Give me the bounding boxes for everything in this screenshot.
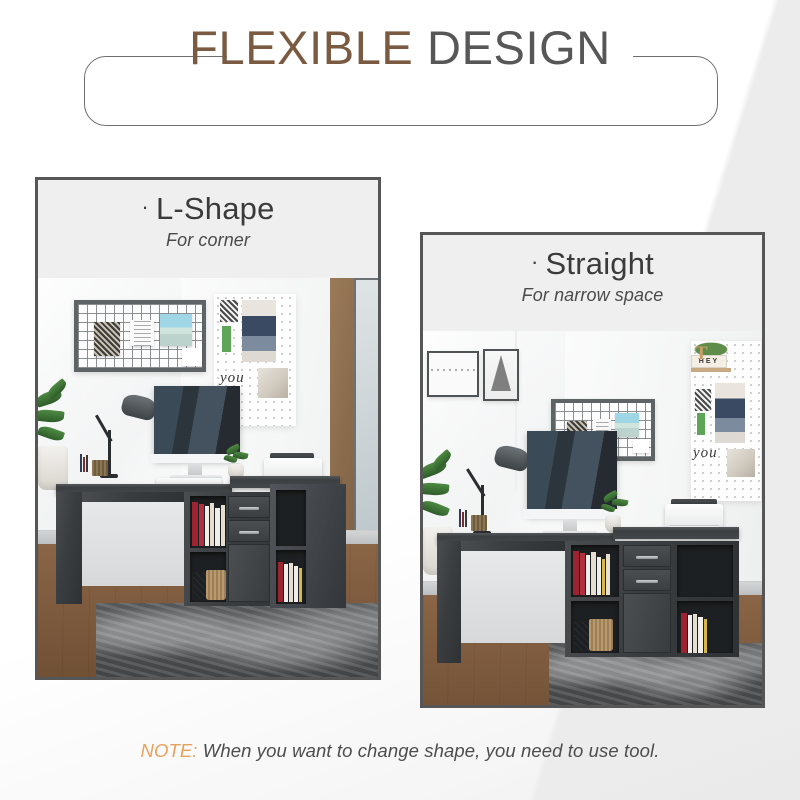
drawer-top [623, 545, 671, 567]
desk-apron [82, 492, 184, 502]
panel-straight-title: ·Straight [423, 248, 762, 281]
memo-card [615, 413, 639, 437]
pegboard-you-text: you [693, 445, 718, 462]
panel-l-shape-subtitle: For corner [38, 230, 378, 251]
infographic-stage: FLEXIBLE DESIGN ·L-Shape For corner [0, 0, 800, 800]
photo-straight: T HEY you [423, 331, 762, 705]
books-lower [278, 562, 302, 602]
panel-straight-subtitle: For narrow space [423, 285, 762, 306]
woven-basket [589, 619, 613, 651]
pegboard-pattern-card [220, 300, 238, 322]
desk-back-panel [82, 500, 184, 586]
memo-card [160, 314, 192, 346]
plant-leaves [38, 386, 78, 448]
pen-cup [92, 460, 108, 476]
bullet-icon: · [531, 249, 539, 274]
desk-left-leg [56, 492, 82, 604]
memo-card [633, 439, 649, 453]
panel-straight-title-text: Straight [546, 246, 654, 281]
pegboard-photo [258, 368, 288, 398]
panel-l-shape-caption: ·L-Shape For corner [38, 180, 378, 278]
pens [459, 509, 467, 527]
pegboard-pattern-card [695, 389, 711, 411]
books-upper [192, 502, 225, 546]
pegboard-icon: T HEY you [691, 341, 761, 501]
memo-card [130, 320, 154, 346]
desk-top-storage [613, 527, 739, 539]
drawer-bottom [623, 569, 671, 591]
panel-straight[interactable]: ·Straight For narrow space [420, 232, 765, 708]
desk-apron [461, 541, 565, 551]
bullet-icon: · [141, 194, 149, 219]
right-cubby-upper [677, 545, 733, 597]
desk-left-leg [437, 541, 461, 663]
books-upper [573, 551, 610, 595]
page-title-secondary: DESIGN [413, 21, 610, 74]
memo-card [182, 348, 202, 366]
page-title-accent: FLEXIBLE [189, 21, 413, 74]
memo-card [94, 322, 120, 356]
note-text: When you want to change shape, you need … [198, 740, 660, 761]
panel-l-shape-title: ·L-Shape [38, 193, 378, 226]
desk-back-panel [461, 549, 565, 643]
pegboard-shelf [691, 368, 731, 372]
drawer-handle[interactable] [239, 531, 259, 534]
photo-l-shape: you [38, 278, 378, 677]
panel-l-shape[interactable]: ·L-Shape For corner you [35, 177, 381, 680]
pegboard-photo [727, 449, 755, 477]
rug [96, 603, 378, 677]
return-cubby-upper [276, 490, 306, 546]
note-line: NOTE: When you want to change shape, you… [0, 740, 800, 762]
pegboard-green-card [697, 413, 705, 435]
art-eiffel-image [485, 351, 517, 399]
pegboard-photo [242, 300, 276, 362]
note-label: NOTE: [141, 740, 198, 761]
pen-cup [471, 515, 487, 531]
pegboard-you-text: you [220, 370, 245, 387]
cabinet-door[interactable] [623, 593, 671, 653]
panel-straight-caption: ·Straight For narrow space [423, 235, 762, 331]
drawer-handle[interactable] [239, 507, 259, 510]
plant-leaves [423, 459, 463, 531]
drawer-top [228, 496, 270, 518]
grid-memo-board-icon [74, 300, 206, 372]
books-right [681, 613, 707, 653]
pens [80, 454, 88, 472]
page-title: FLEXIBLE DESIGN [0, 24, 800, 71]
drawer-bottom [228, 520, 270, 542]
art-birds-image [429, 353, 477, 395]
framed-art-birds [427, 351, 479, 397]
pegboard-letter-t: T [695, 343, 708, 365]
pegboard-green-card [222, 326, 231, 352]
pegboard-photo [715, 383, 745, 443]
desk-plant-leaves [224, 444, 250, 466]
desk-plant-leaves [601, 491, 631, 517]
woven-basket [206, 570, 226, 600]
cabinet-door[interactable] [228, 544, 270, 602]
panel-l-shape-title-text: L-Shape [156, 191, 275, 226]
framed-art-eiffel [483, 349, 519, 401]
drawer-handle[interactable] [636, 556, 658, 559]
drawer-handle[interactable] [636, 580, 658, 583]
